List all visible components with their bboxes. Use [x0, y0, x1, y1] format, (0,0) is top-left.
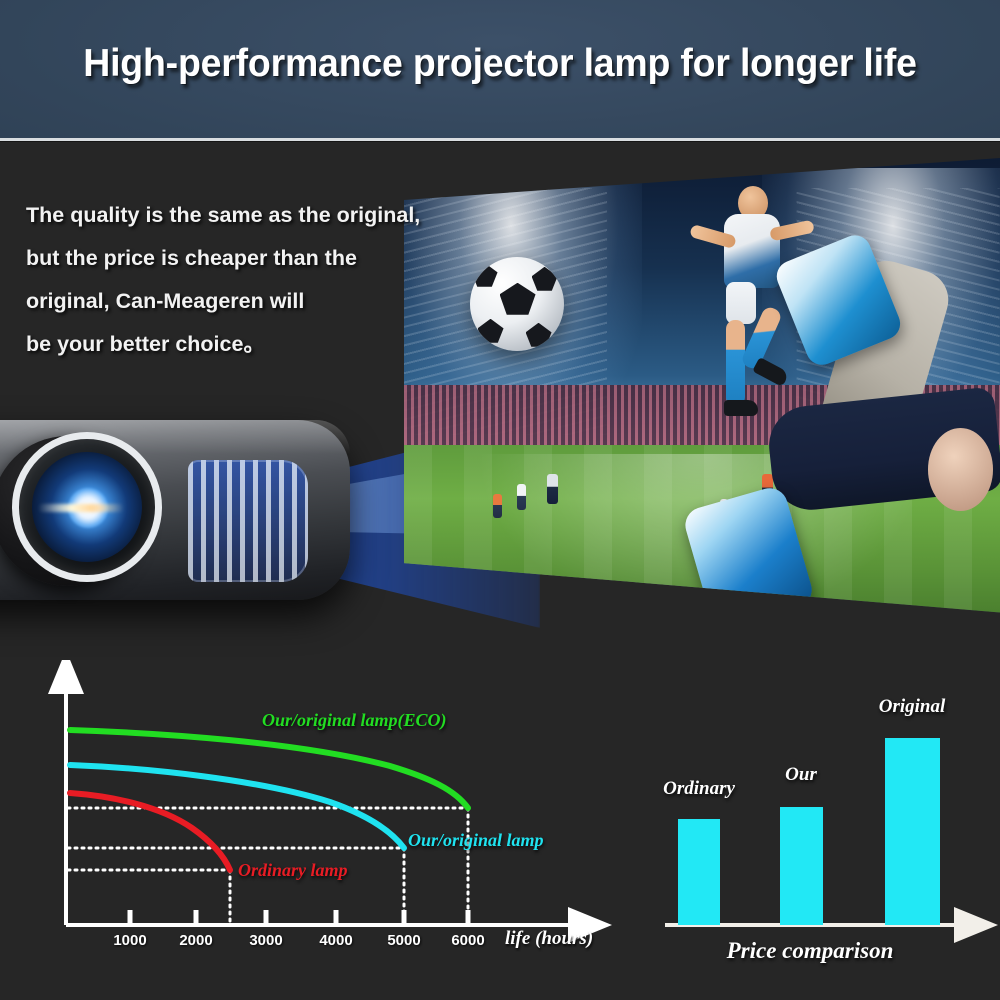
copy-line-3: original, Can-Meageren will	[26, 280, 456, 323]
soccer-ball	[470, 257, 564, 351]
series-label-our-original: Our/original lamp	[408, 830, 544, 851]
projector-image	[0, 392, 360, 622]
bar-original	[885, 738, 940, 925]
product-infographic: High-performance projector lamp for long…	[0, 0, 1000, 1000]
copy-line-2: but the price is cheaper than the	[26, 237, 456, 280]
background-player-1	[517, 484, 526, 510]
price-comparison-bar-chart: Ordinary Our Original Price comparison	[620, 660, 1000, 1000]
lens-flare	[38, 504, 124, 512]
goalkeeper-diving	[702, 257, 1000, 563]
x-tick-4000: 4000	[319, 932, 352, 949]
x-tick-5000: 5000	[387, 932, 420, 949]
bar-label-original: Original	[879, 696, 946, 718]
x-tick-1000: 1000	[113, 932, 146, 949]
series-label-ordinary: Ordinary lamp	[238, 860, 348, 881]
x-axis-ticks	[130, 910, 468, 925]
copy-line-1: The quality is the same as the original,	[26, 194, 456, 237]
charts-section: Brightness (lumens)	[0, 660, 1000, 1000]
background-player-3	[493, 494, 502, 518]
background-player-2	[547, 474, 558, 504]
bar-label-ordinary: Ordinary	[663, 778, 735, 800]
product-photo-section: The quality is the same as the original,…	[0, 142, 1000, 687]
marketing-copy: The quality is the same as the original,…	[26, 194, 456, 366]
header-banner: High-performance projector lamp for long…	[0, 0, 1000, 138]
brightness-life-line-chart: Brightness (lumens)	[0, 660, 620, 1000]
series-label-eco: Our/original lamp(ECO)	[262, 710, 447, 731]
goalkeeper-head	[928, 428, 993, 511]
bar-ordinary	[678, 819, 720, 925]
copy-line-4: be your better choice。	[26, 323, 456, 366]
x-tick-3000: 3000	[249, 932, 282, 949]
page-title: High-performance projector lamp for long…	[20, 42, 980, 86]
bar-chart-title: Price comparison	[727, 938, 894, 964]
x-axis-label: life (hours)	[505, 928, 593, 950]
projector-vent-glow	[188, 460, 308, 582]
curve-ordinary	[70, 793, 230, 870]
bar-label-our: Our	[785, 764, 817, 786]
bar-our	[780, 807, 823, 925]
x-tick-2000: 2000	[179, 932, 212, 949]
x-tick-6000: 6000	[451, 932, 484, 949]
